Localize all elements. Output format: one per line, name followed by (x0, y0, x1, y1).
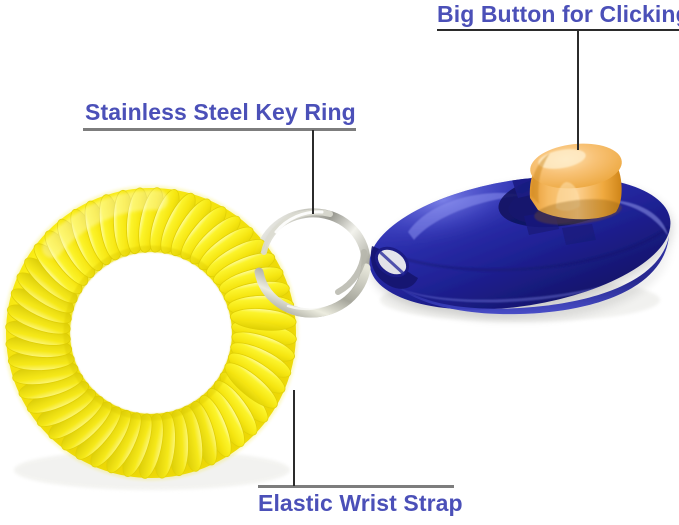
callout-leader-key-ring (312, 130, 314, 214)
callout-label-big-button: Big Button for Clicking (437, 1, 679, 27)
callout-label-wrist-strap: Elastic Wrist Strap (258, 490, 463, 516)
callout-leader-wrist-strap (293, 390, 295, 486)
callout-rule-big-button (437, 29, 679, 31)
callout-label-key-ring: Stainless Steel Key Ring (85, 99, 356, 125)
callout-leader-big-button (577, 30, 579, 150)
orange-click-button[interactable] (528, 139, 624, 228)
callout-rule-wrist-strap (258, 485, 454, 488)
callout-rule-key-ring (83, 128, 356, 131)
product-annotation-image: Big Button for Clicking Stainless Steel … (0, 0, 679, 525)
